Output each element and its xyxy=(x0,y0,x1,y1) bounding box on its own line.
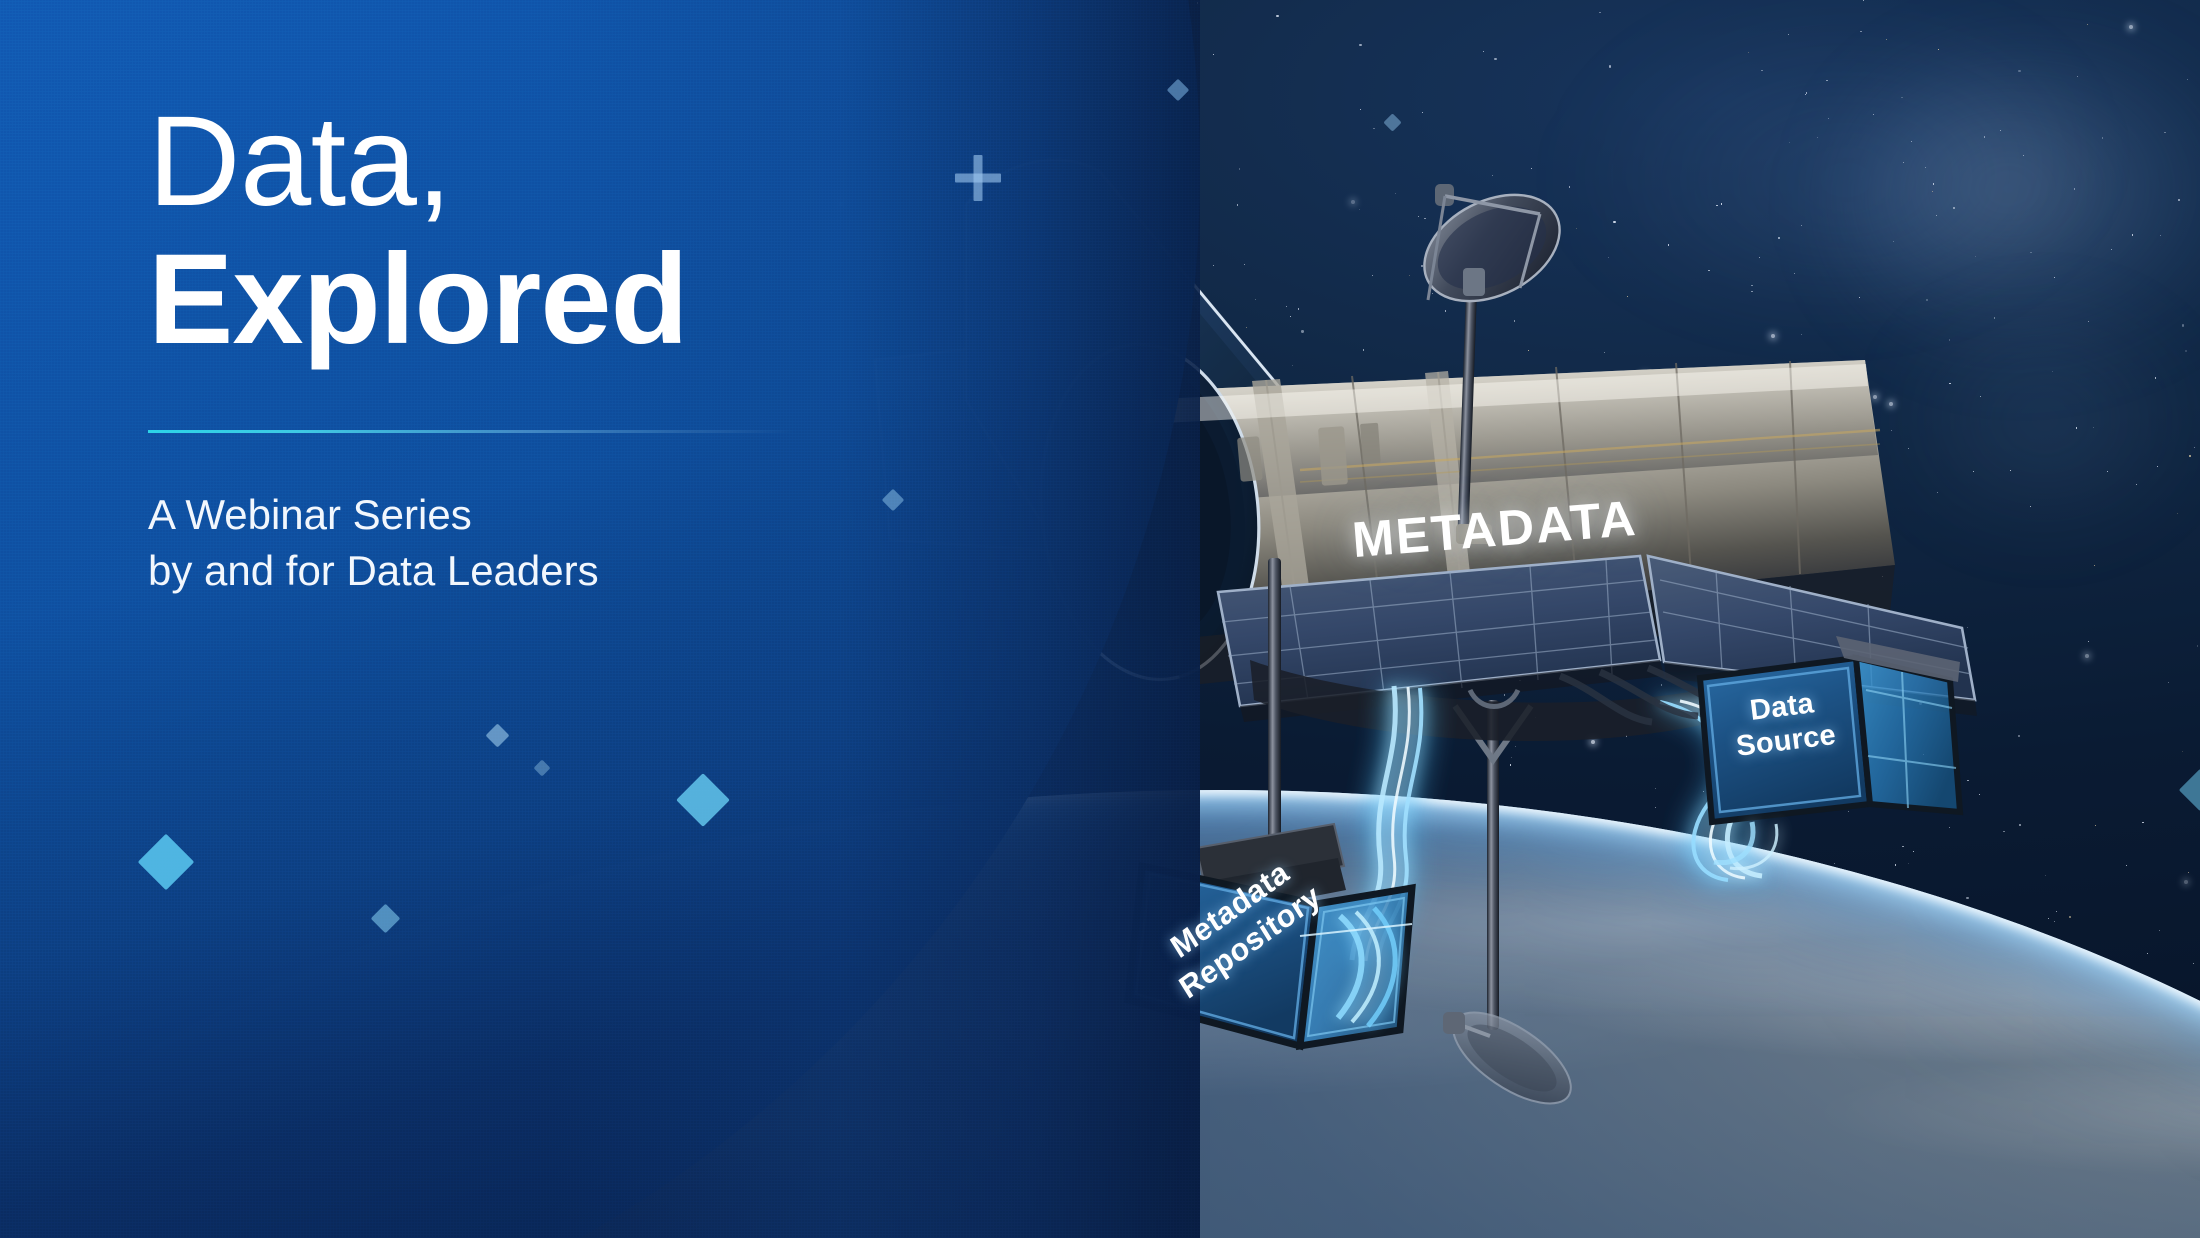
subtitle-line-2: by and for Data Leaders xyxy=(148,543,968,600)
page-subtitle: A Webinar Series by and for Data Leaders xyxy=(148,487,968,600)
hero-copy-block: Data, Explored A Webinar Series by and f… xyxy=(148,96,968,600)
page-title: Data, Explored xyxy=(148,96,968,366)
title-divider xyxy=(148,430,794,433)
title-line-2: Explored xyxy=(148,234,968,366)
subtitle-line-1: A Webinar Series xyxy=(148,487,968,544)
title-line-1: Data, xyxy=(148,96,968,228)
hero-banner: Data, Explored A Webinar Series by and f… xyxy=(0,0,2200,1238)
